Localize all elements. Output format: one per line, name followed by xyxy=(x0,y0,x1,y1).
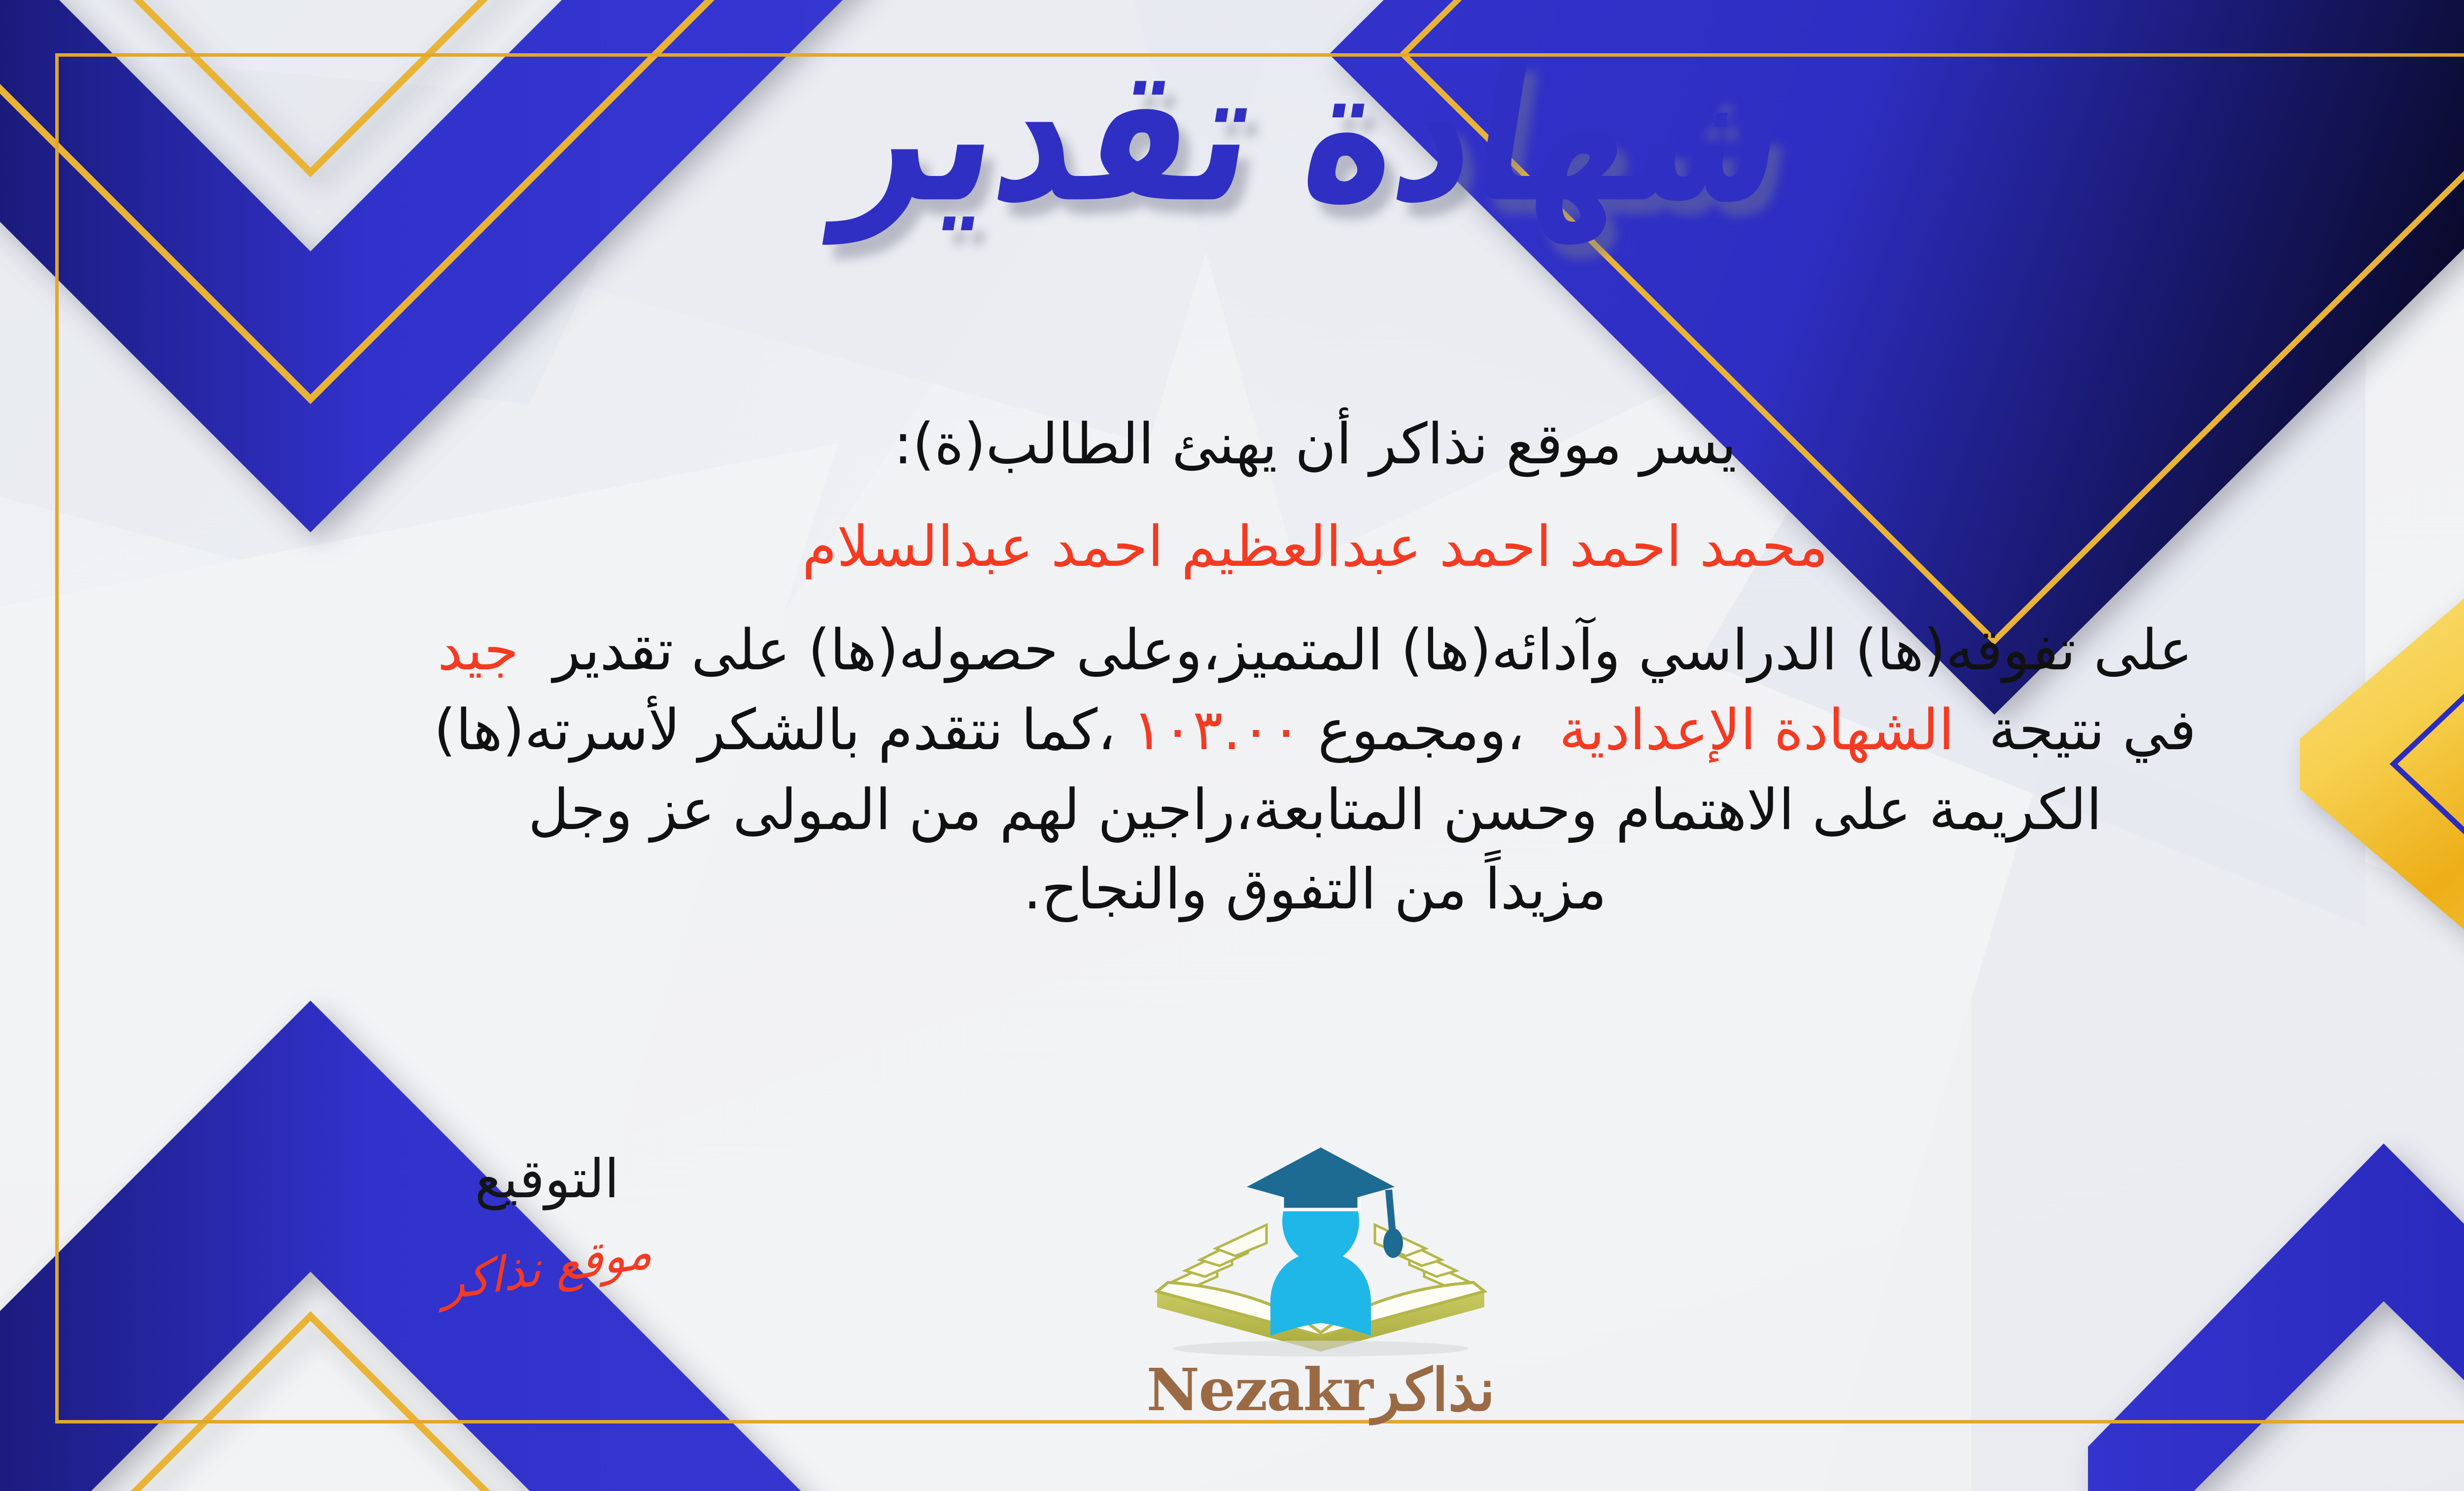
achievement-text: على تفوقه(ها) الدراسي وآدائه(ها) المتميز… xyxy=(553,617,2193,683)
result-line: في نتيجةالشهادة الإعدادية،ومجموع١٠٣.٠٠،ك… xyxy=(84,690,2464,770)
site-logo: نذاكرNezakr xyxy=(1119,1129,1523,1454)
page-title: شهادة تقدير xyxy=(0,42,2464,229)
result-prefix: في نتيجة xyxy=(1989,697,2196,763)
student-name-line: محمد احمد احمد عبدالعظيم احمد عبدالسلام xyxy=(84,507,2464,587)
family-thanks-line: الكريمة على الاهتمام وحسن المتابعة،راجين… xyxy=(84,770,2464,850)
corner-ornament-bottom-right-icon xyxy=(2088,1144,2464,1491)
intro-line: يسر موقع نذاكر أن يهنئ الطالب(ة): xyxy=(84,404,2464,484)
total-score: ١٠٣.٠٠ xyxy=(1132,697,1301,763)
thanks-text: ،كما نتقدم بالشكر لأسرته(ها) xyxy=(434,697,1115,763)
closing-line: مزيداً من التفوق والنجاح. xyxy=(84,849,2464,929)
logo-name-ar: نذاكر xyxy=(1372,1355,1495,1424)
achievement-line: على تفوقه(ها) الدراسي وآدائه(ها) المتميز… xyxy=(84,610,2464,690)
intro-text: يسر موقع نذاكر أن يهنئ الطالب(ة): xyxy=(893,411,1737,477)
total-label: ،ومجموع xyxy=(1318,697,1524,763)
certificate-canvas: شهادة تقدير يسر موقع نذاكر أن يهنئ الطال… xyxy=(0,0,2464,1491)
exam-name: الشهادة الإعدادية xyxy=(1559,697,1954,763)
graduate-book-logo-icon xyxy=(1119,1129,1523,1365)
certificate-title-wrapper: شهادة تقدير xyxy=(0,59,2464,212)
signature-block: التوقيع موقع نذاكر xyxy=(375,1148,719,1295)
certificate-body: يسر موقع نذاكر أن يهنئ الطالب(ة): محمد ا… xyxy=(84,404,2464,929)
family-thanks-text: الكريمة على الاهتمام وحسن المتابعة،راجين… xyxy=(528,777,2102,842)
closing-text: مزيداً من التفوق والنجاح. xyxy=(1024,856,1607,922)
grade-value: جيد xyxy=(438,617,519,683)
signature-mark: موقع نذاكر xyxy=(375,1213,719,1322)
student-name: محمد احمد احمد عبدالعظيم احمد عبدالسلام xyxy=(802,514,1828,579)
logo-name-en: Nezakr xyxy=(1146,1355,1372,1424)
logo-wordmark: نذاكرNezakr xyxy=(1119,1355,1523,1424)
signature-label: التوقيع xyxy=(375,1148,719,1210)
